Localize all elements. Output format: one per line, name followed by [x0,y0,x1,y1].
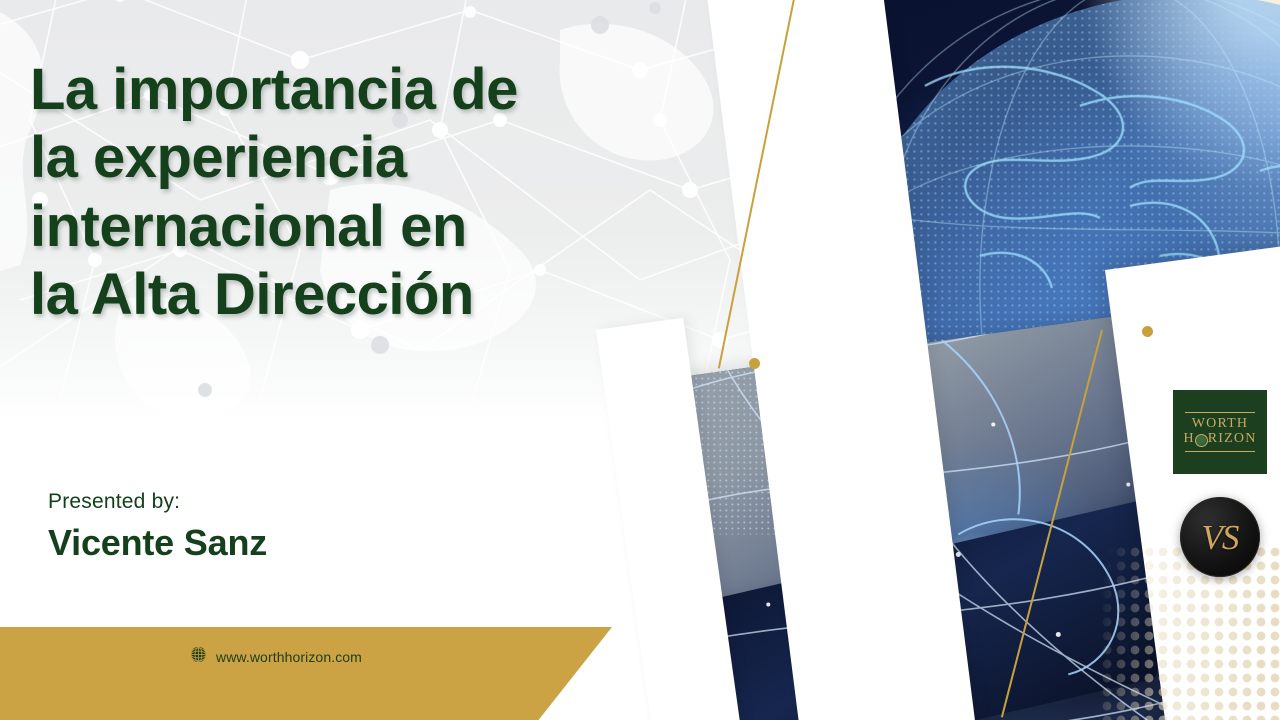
footer-content: www.worthhorizon.com [190,646,362,668]
presented-by-label: Presented by: [48,490,180,514]
logo-word-horizon: H RIZON [1183,432,1256,447]
website-url[interactable]: www.worthhorizon.com [216,649,362,665]
vs-monogram-badge: VS [1180,497,1260,577]
footer-bar [0,627,612,720]
page-title: La importancia de la experiencia interna… [30,56,750,330]
gold-accent-dot-right [1142,326,1153,337]
presentation-slide: La importancia de la experiencia interna… [0,0,1280,720]
logo-globe-icon [1195,434,1208,447]
logo-word-worth: WORTH [1192,417,1248,432]
worth-horizon-logo: WORTH H RIZON [1173,390,1267,474]
gold-accent-dot-top [749,358,760,369]
logo-horizon-h: H [1183,432,1194,447]
monogram-initials: VS [1202,520,1239,555]
logo-rule-bottom [1185,451,1255,452]
logo-horizon-rizon: RIZON [1208,432,1257,447]
presenter-name: Vicente Sanz [48,522,267,564]
logo-wordmark: WORTH H RIZON [1183,413,1256,450]
globe-icon [190,646,207,668]
halftone-dot-pattern [1100,545,1280,720]
